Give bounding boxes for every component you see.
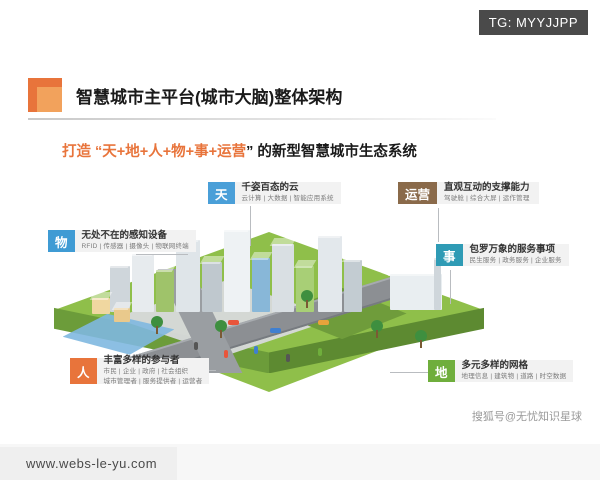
callout-ren-key: 人 [70, 358, 97, 384]
callout-yunying[interactable]: 运营 直观互动的支撑能力 驾驶舱 | 综合大屏 | 运作管理 [398, 182, 539, 204]
callout-di-title: 多元多样的网格 [462, 361, 567, 371]
building-6 [224, 230, 250, 312]
person-2 [224, 350, 228, 358]
person-4 [286, 354, 290, 362]
building-8 [272, 244, 294, 312]
callout-shi-key: 事 [436, 244, 463, 266]
callout-yunying-title: 直观互动的支撑能力 [444, 183, 532, 193]
tg-badge: TG: MYYJJPP [479, 10, 588, 35]
callout-yunying-sub: 驾驶舱 | 综合大屏 | 运作管理 [444, 195, 532, 203]
callout-ren-sub2: 城市管理者 | 服务提供者 | 运营者 [104, 378, 203, 386]
callout-shi-title: 包罗万象的服务事项 [470, 245, 562, 255]
tree-1 [150, 316, 164, 334]
page-subtitle: 打造 “天+地+人+物+事+运营” 的新型智慧城市生态系统 [62, 140, 417, 161]
tree-3 [300, 290, 314, 308]
callout-di-key: 地 [428, 360, 455, 382]
callout-shi-sub: 民生服务 | 政务服务 | 企业服务 [470, 257, 562, 265]
callout-ren-title: 丰富多样的参与者 [104, 356, 203, 366]
building-5 [202, 262, 222, 312]
title-divider [28, 118, 496, 120]
building-7 [252, 258, 270, 312]
callout-wu[interactable]: 物 无处不在的感知设备 RFID | 传感器 | 摄像头 | 物联网终端 [48, 230, 196, 252]
lead-line-tian [250, 206, 251, 246]
callout-tian-sub: 云计算 | 大数据 | 智能应用系统 [242, 195, 334, 203]
callout-ren[interactable]: 人 丰富多样的参与者 市民 | 企业 | 政府 | 社会组织 城市管理者 | 服… [70, 358, 209, 384]
lead-line-yunying [438, 208, 439, 242]
callout-di[interactable]: 地 多元多样的网格 地理信息 | 建筑物 | 道路 | 时空数据 [428, 360, 573, 382]
person-5 [318, 348, 322, 356]
callout-shi[interactable]: 事 包罗万象的服务事项 民生服务 | 政务服务 | 企业服务 [436, 244, 569, 266]
page-title-row: 智慧城市主平台(城市大脑)整体架构 [28, 78, 342, 112]
callout-wu-key: 物 [48, 230, 75, 252]
vehicle-2 [270, 328, 281, 333]
vehicle-3 [318, 320, 329, 325]
callout-wu-title: 无处不在的感知设备 [82, 231, 189, 241]
subtitle-part-1: 打造 “ [62, 144, 102, 160]
callout-tian-title: 千姿百态的云 [242, 183, 334, 193]
building-2 [132, 254, 154, 312]
callout-shi-body: 包罗万象的服务事项 民生服务 | 政务服务 | 企业服务 [463, 244, 569, 266]
callout-yunying-body: 直观互动的支撑能力 驾驶舱 | 综合大屏 | 运作管理 [437, 182, 539, 204]
callout-tian-body: 千姿百态的云 云计算 | 大数据 | 智能应用系统 [235, 182, 341, 204]
house-1 [92, 298, 110, 314]
person-3 [254, 346, 258, 354]
title-square-icon [28, 78, 62, 112]
callout-ren-sub: 市民 | 企业 | 政府 | 社会组织 [104, 368, 203, 376]
callout-wu-body: 无处不在的感知设备 RFID | 传感器 | 摄像头 | 物联网终端 [75, 230, 196, 252]
vehicle-1 [228, 320, 239, 325]
tree-5 [414, 330, 428, 348]
lead-line-shi [450, 270, 451, 304]
callout-ren-body: 丰富多样的参与者 市民 | 企业 | 政府 | 社会组织 城市管理者 | 服务提… [97, 358, 210, 384]
watermark: 搜狐号@无忧知识星球 [472, 408, 582, 424]
tree-4 [370, 320, 384, 338]
house-2 [114, 308, 130, 322]
city-illustration: 天 千姿百态的云 云计算 | 大数据 | 智能应用系统 运营 直观互动的支撑能力… [18, 170, 582, 430]
lead-line-wu [136, 254, 188, 255]
callout-yunying-key: 运营 [398, 182, 437, 204]
subtitle-part-2: ” 的新型智慧城市生态系统 [246, 144, 417, 160]
callout-wu-sub: RFID | 传感器 | 摄像头 | 物联网终端 [82, 243, 189, 251]
callout-tian-key: 天 [208, 182, 235, 204]
person-1 [194, 342, 198, 350]
building-3 [156, 270, 174, 312]
page-title: 智慧城市主平台(城市大脑)整体架构 [76, 83, 342, 108]
footer-url: www.webs-le-yu.com [0, 447, 177, 480]
callout-tian[interactable]: 天 千姿百态的云 云计算 | 大数据 | 智能应用系统 [208, 182, 341, 204]
building-11 [344, 260, 362, 312]
building-10 [318, 236, 342, 312]
subtitle-keys: 天+地+人+物+事+运营 [102, 144, 246, 160]
callout-di-sub: 地理信息 | 建筑物 | 道路 | 时空数据 [462, 373, 567, 381]
callout-di-body: 多元多样的网格 地理信息 | 建筑物 | 道路 | 时空数据 [455, 360, 574, 382]
tree-2 [214, 320, 228, 338]
